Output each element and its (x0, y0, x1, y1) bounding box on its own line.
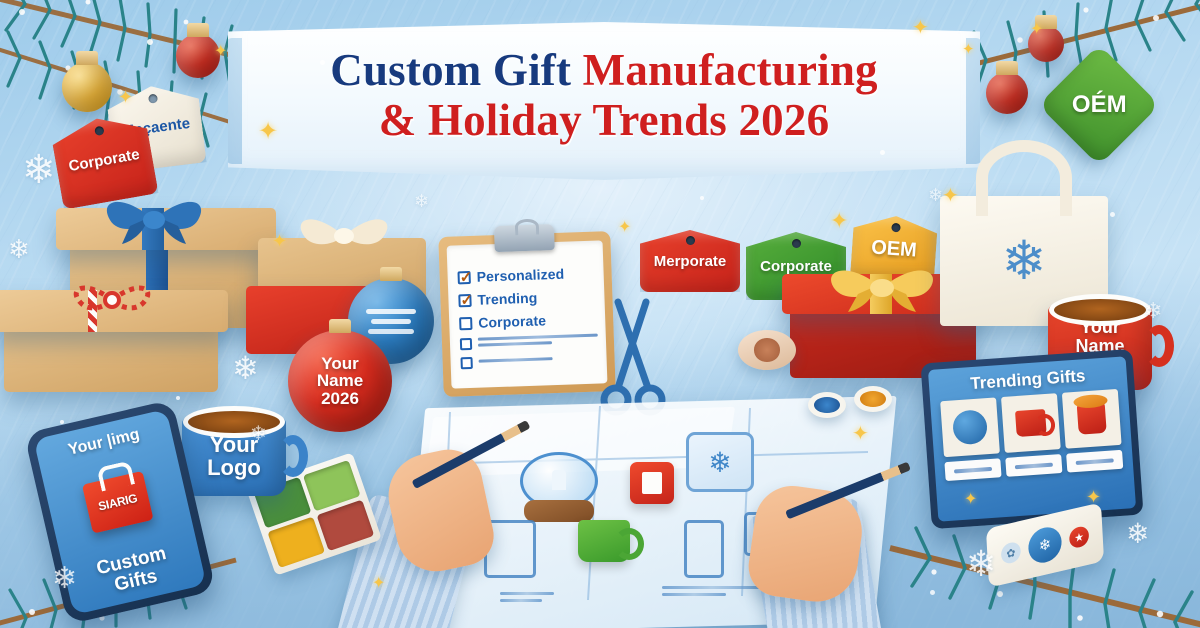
checkbox-unchecked-icon[interactable] (460, 357, 472, 369)
banner-title-red: Manufacturing (583, 45, 878, 95)
tablet-product-cards (937, 389, 1124, 458)
bow-blue (96, 186, 216, 246)
ornament-line-3: 2026 (317, 390, 363, 407)
bow-cream (288, 202, 404, 260)
phone-top-label: Your |img (67, 426, 142, 460)
tape-roll-1 (738, 330, 796, 370)
checklist-item-personalized[interactable]: Personalized (457, 265, 595, 286)
cup-preview-icon (1077, 403, 1107, 435)
phone-screen[interactable]: Your |img SIARIG Custom Gifts (33, 409, 206, 615)
tag-label: Corporate (67, 145, 141, 174)
paint-pot-orange (854, 386, 892, 412)
product-card-ball[interactable] (940, 397, 1000, 457)
scribble-text (478, 334, 598, 350)
sketch-card-red (630, 462, 674, 504)
ornament-gold-top-left (62, 62, 112, 112)
bow-gold (818, 254, 948, 312)
tablet-button-1[interactable] (944, 458, 1001, 481)
sketch-note-left (500, 592, 554, 606)
banner-title-navy: Custom Gift (330, 45, 571, 95)
mug-handle (278, 435, 308, 477)
tag-label: Merporate (654, 253, 727, 270)
mug-your-logo: Your Logo (182, 416, 286, 496)
mug-handle (1144, 325, 1174, 367)
ornament-red-text: Your Name 2026 (317, 355, 363, 407)
bow-twine (62, 274, 166, 322)
phone-gift-bag-icon: SIARIG (82, 471, 154, 534)
mug-blue-text: Your Logo (207, 433, 261, 480)
checklist-item-scribble-1[interactable] (460, 334, 598, 351)
phone-bag-label: SIARIG (97, 491, 139, 514)
snow-dot (320, 60, 325, 65)
checkbox-checked-icon[interactable] (458, 293, 471, 306)
clipboard[interactable]: Personalized Trending Corporate (438, 231, 615, 397)
checklist-label: Trending (477, 290, 537, 308)
tablet-screen[interactable]: Trending Gifts (928, 356, 1136, 521)
ornament-red-your-name: Your Name 2026 (288, 330, 392, 432)
clipboard-paper: Personalized Trending Corporate (447, 240, 608, 388)
tablet-mockup[interactable]: Trending Gifts (920, 349, 1143, 529)
tablet-button-3[interactable] (1066, 450, 1123, 473)
snow-dot (60, 420, 64, 424)
checklist-item-trending[interactable]: Trending (458, 288, 596, 309)
ornament-blue-scribble (362, 309, 420, 334)
pad-button-1[interactable]: ✿ (1001, 540, 1022, 565)
scribble-text (479, 356, 599, 366)
pad-button-3[interactable]: ★ (1069, 525, 1090, 550)
tag-label: OÉM (1072, 91, 1127, 119)
coffee-surface (1049, 294, 1151, 326)
sketch-card-snowflake: ❄ (686, 432, 754, 492)
checklist-item-scribble-2[interactable] (460, 353, 598, 370)
snow-globe-mockup (518, 452, 600, 528)
mug-line-2: Logo (207, 456, 261, 479)
ornament-preview-icon (952, 409, 988, 445)
checkbox-unchecked-icon[interactable] (459, 316, 472, 329)
banner-line-2: & Holiday Trends 2026 (379, 94, 830, 147)
paint-pot-blue (808, 392, 846, 418)
sketch-outline-phone (684, 520, 724, 578)
ornament-line-2: Name (317, 372, 363, 389)
checkbox-checked-icon[interactable] (457, 270, 470, 283)
ornament-red-top-right-2 (1028, 26, 1064, 62)
snow-dot (700, 196, 704, 200)
checklist-label: Corporate (478, 312, 546, 330)
product-card-mug[interactable] (1001, 393, 1061, 453)
phone-bottom-label: Custom Gifts (95, 544, 173, 598)
snow-dot (930, 590, 935, 595)
snow-dot (176, 396, 180, 400)
clipboard-clip (494, 224, 555, 252)
snow-dot (1110, 212, 1115, 217)
mug-preview-icon (1015, 409, 1047, 437)
checklist-item-corporate[interactable]: Corporate (459, 311, 597, 332)
ornament-red-top-left (176, 34, 220, 78)
tablet-button-2[interactable] (1005, 454, 1062, 477)
headline-banner: Custom Gift Manufacturing & Holiday Tren… (228, 22, 980, 180)
checkbox-unchecked-icon[interactable] (460, 338, 472, 350)
pad-button-2[interactable]: ❄ (1028, 524, 1063, 566)
checklist-label: Personalized (476, 266, 564, 285)
snowflake-icon: ❄ (1001, 234, 1046, 288)
ornament-red-top-right (986, 72, 1028, 114)
sketch-mug-green (578, 520, 630, 562)
illustration-canvas: Meçaente Corporate OÉM Custom Gift Manuf… (0, 0, 1200, 628)
tote-handle (976, 140, 1072, 216)
coffee-surface (183, 406, 285, 438)
sketch-signature (662, 586, 762, 600)
snow-dot (402, 120, 406, 124)
ornament-line-1: Your (317, 355, 363, 372)
product-card-cup[interactable] (1062, 389, 1122, 449)
banner-line-1: Custom Gift Manufacturing (330, 47, 878, 94)
snow-dot (880, 150, 885, 155)
